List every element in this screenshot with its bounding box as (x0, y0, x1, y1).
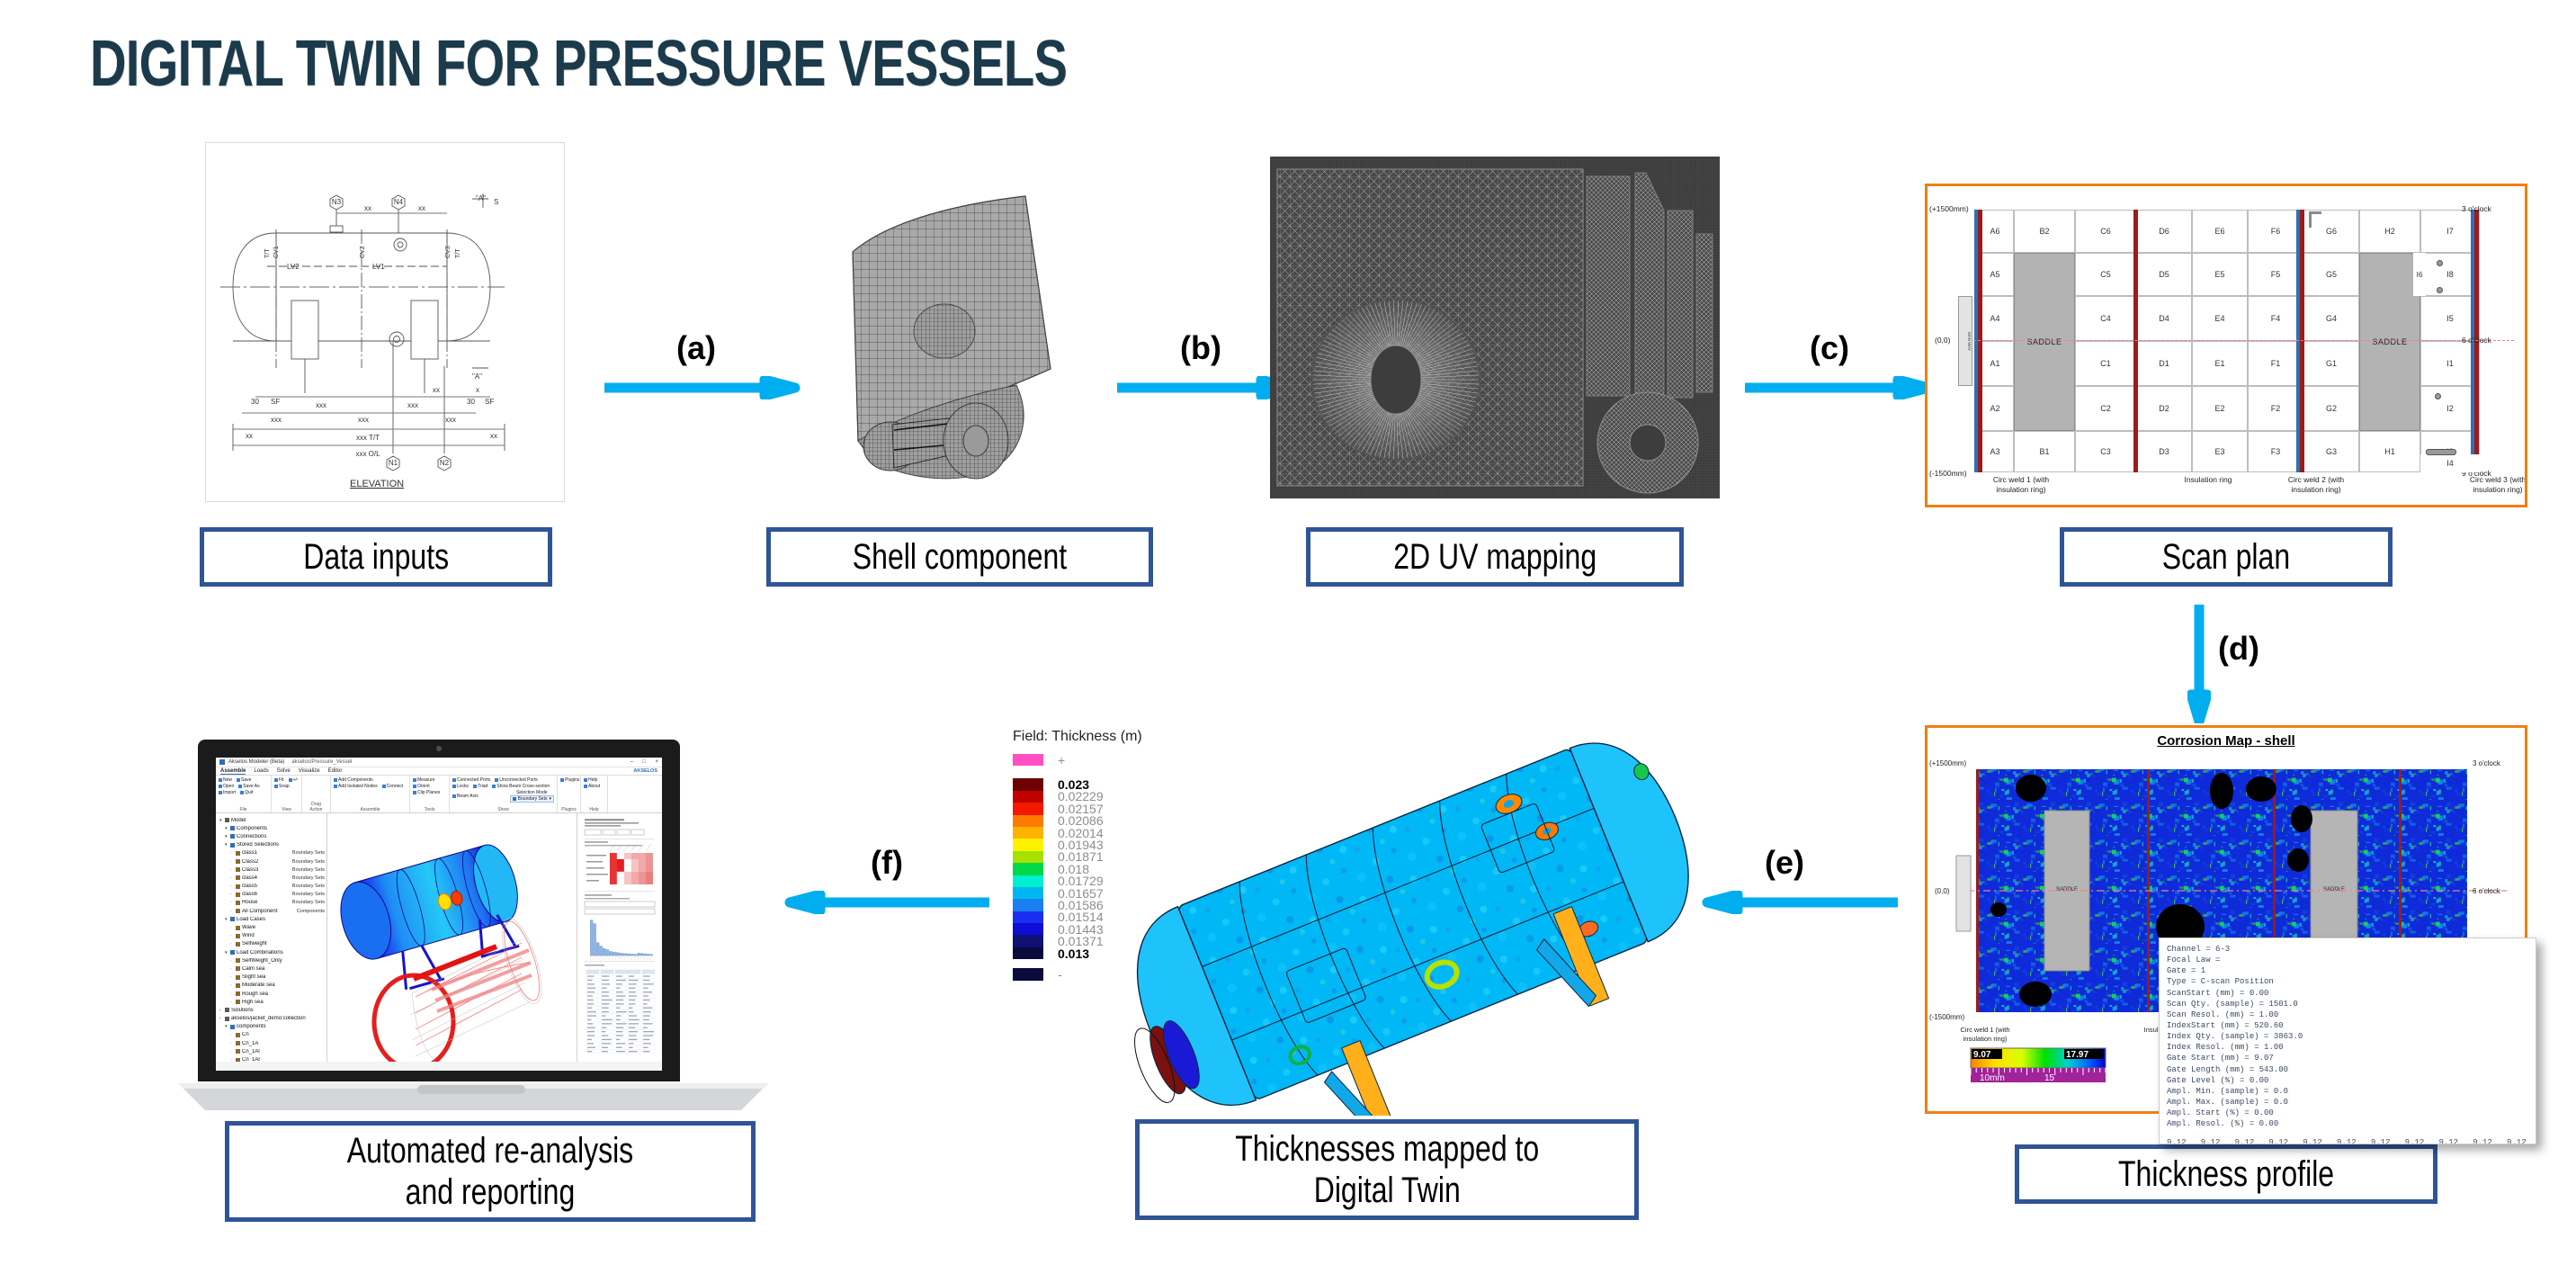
ribbon-group-label: View (274, 807, 299, 812)
tree-item-label: Solutions (231, 1008, 325, 1013)
legend-over-symbol: + (1058, 753, 1065, 767)
tree-item[interactable]: ·Wave (218, 923, 325, 931)
legend-row: 0.01657 (1013, 887, 1211, 899)
tree-item[interactable]: ▾Load Combinations (218, 948, 325, 956)
tab-loads[interactable]: Loads (254, 768, 268, 774)
weld-label-cv1: CV1 (273, 246, 280, 258)
ribbon-item-icon (274, 778, 278, 782)
tree-item[interactable]: ·Rough sea (218, 990, 325, 998)
ribbon-item-icon (238, 785, 242, 788)
ribbon-item[interactable]: Triad (473, 784, 487, 789)
ribbon-group-drag-action: Drag Action (302, 776, 331, 812)
tree-item-icon (236, 1033, 240, 1037)
tree-twisty-icon[interactable]: · (230, 1032, 234, 1037)
tree-twisty-icon[interactable]: ▾ (225, 842, 228, 848)
scan-plan-cell[interactable]: E1 (2192, 341, 2248, 386)
weld-label-cv3: CV3 (445, 246, 452, 258)
tree-item[interactable]: ·Moderate sea (218, 982, 325, 990)
level-label-lv1: LV1 (372, 263, 385, 271)
ribbon-item[interactable]: About (584, 784, 600, 789)
tree-twisty-icon[interactable]: · (230, 850, 234, 856)
scan-plan-cell[interactable]: C4 (2075, 296, 2136, 341)
saddle-block: SADDLE (2359, 253, 2420, 431)
caption-twin-mapped: Thicknesses mapped to Digital Twin (1135, 1119, 1639, 1220)
ribbon-item[interactable]: New (219, 777, 232, 783)
tree-item[interactable]: ▾Components (218, 824, 325, 832)
tree-twisty-icon[interactable]: · (230, 933, 234, 938)
weld-line-red (1978, 210, 1982, 472)
nozzle-marker (2435, 393, 2441, 399)
tree-twisty-icon[interactable]: · (230, 1041, 234, 1046)
scan-plan-cell[interactable]: F6 (2248, 210, 2303, 253)
ribbon-item[interactable]: +/- (289, 777, 299, 783)
ribbon-item-label: Add Isolated Nodes (338, 784, 378, 789)
ribbon-item[interactable]: Measure (413, 777, 434, 783)
tree-item-type: Boundary Sets (292, 850, 325, 856)
modeler-app-screen: Akselos Modeler (Beta) akselos/Pressure_… (216, 758, 662, 1071)
scan-plan-cell[interactable]: C2 (2075, 386, 2136, 431)
tree-item-type: Boundary Sets (292, 867, 325, 873)
scan-plan-cell[interactable]: C1 (2075, 341, 2136, 386)
ribbon-item[interactable]: Locks (452, 784, 469, 789)
ribbon-item[interactable]: Import (219, 790, 236, 795)
tree-item-icon (236, 942, 240, 947)
tree-item-label: High sea (242, 1000, 325, 1005)
app-doc-title: akselos/Pressure_Vessel (291, 759, 352, 765)
ribbon-item[interactable]: Orient (413, 784, 430, 789)
scan-plan-cell[interactable]: G2 (2303, 386, 2359, 431)
scan-plan-cell[interactable]: B1 (2014, 431, 2075, 472)
app-title: Akselos Modeler (Beta) (228, 759, 284, 765)
ribbon-item-icon (289, 778, 292, 782)
ribbon-item[interactable]: Connected Ports (452, 777, 490, 783)
ribbon-item[interactable]: Save As (238, 784, 259, 789)
ribbon-item[interactable]: Add Components (334, 777, 373, 783)
svg-text:Circ weld 1 (with: Circ weld 1 (with (1960, 1026, 2009, 1034)
tree-item-type: Boundary Sets (292, 892, 325, 897)
svg-text:17.97: 17.97 (2066, 1050, 2089, 1060)
legend-swatch (1013, 923, 1043, 935)
dim-label: xxx (271, 416, 282, 424)
scan-plan-cell[interactable]: H2 (2359, 210, 2420, 253)
tree-item-label: Load Combinations (237, 950, 325, 955)
ribbon-item-icon (584, 778, 587, 782)
tree-item-label: House (242, 900, 291, 905)
uv-mesh-svg (1270, 157, 1720, 498)
tree-item-label: SelfWeight_Only (242, 958, 325, 964)
scan-plan-cell[interactable]: I6 (2413, 253, 2426, 296)
model-tree[interactable]: ▾Model▾Components▾Connections▾Stored Sel… (216, 813, 327, 1062)
window-close-button[interactable]: × (651, 759, 662, 765)
tree-twisty-icon[interactable]: · (230, 875, 234, 881)
ribbon-item-label: Fit (279, 777, 284, 783)
tree-item-type: Boundary Sets (292, 900, 325, 905)
legend-row: 0.013 (1013, 947, 1211, 959)
tree-twisty-icon[interactable]: › (219, 1008, 223, 1013)
tree-item[interactable]: ·Class2Boundary Sets (218, 857, 325, 866)
svg-text:9.07: 9.07 (1973, 1050, 1991, 1060)
tree-item-icon (236, 901, 240, 905)
legend-row: 0.02014 (1013, 827, 1211, 839)
tree-twisty-icon[interactable]: › (219, 1016, 223, 1021)
support-block (2426, 449, 2456, 455)
tree-item[interactable]: ·High sea (218, 998, 325, 1006)
ribbon-item-label: Plugins (565, 777, 579, 783)
ribbon-item[interactable]: Clip Planes (413, 790, 440, 795)
ribbon-item[interactable]: Help (584, 777, 597, 783)
scan-plan-axis-label: (0,0) (1935, 336, 1950, 345)
arrow-label-f: (f) (871, 844, 903, 882)
tree-item-label: class6 (242, 892, 291, 897)
legend-title: Field: Thickness (m) (1013, 729, 1211, 745)
tree-item[interactable]: ·Selfweight (218, 940, 325, 948)
arrow-label-c: (c) (1810, 329, 1849, 367)
svg-text:(+1500mm): (+1500mm) (1929, 759, 1966, 767)
legend-swatch (1013, 947, 1043, 959)
panel-shell-component (836, 180, 1088, 504)
tree-twisty-icon[interactable]: ▾ (225, 834, 228, 839)
ribbon-item[interactable]: Snap (274, 784, 290, 789)
ribbon-item-label: About (588, 784, 600, 789)
legend-row: 0.01371 (1013, 935, 1211, 947)
ribbon-group-view: Fit+/-SnapView (272, 776, 302, 812)
tree-item[interactable]: ·HouseBoundary Sets (218, 899, 325, 907)
model-viewport[interactable] (327, 813, 577, 1062)
ribbon-item[interactable]: Show Beam Cross-section (492, 784, 550, 789)
tree-twisty-icon[interactable]: ▾ (225, 826, 228, 831)
tree-twisty-icon[interactable]: · (230, 1057, 234, 1062)
ribbon-item-label: Unconnected Ports (499, 777, 538, 783)
ribbon-item-icon (584, 785, 587, 788)
ribbon-item-icon (334, 778, 337, 782)
tree-twisty-icon[interactable]: · (230, 941, 234, 947)
tree-item[interactable]: ·Slight sea (218, 973, 325, 982)
thickness-legend: Field: Thickness (m) +0.0230.022290.0215… (1013, 729, 1211, 981)
tree-item-label: Components (237, 826, 325, 831)
tree-item[interactable]: ·Cn_1Al (218, 1047, 325, 1055)
legend-row: 0.02157 (1013, 803, 1211, 814)
nozzle-marker (2437, 260, 2443, 266)
ribbon-item-icon (560, 778, 564, 782)
selection-mode-dropdown[interactable]: Boundary Sets▾ (510, 795, 554, 803)
tree-twisty-icon[interactable]: ▾ (225, 1024, 228, 1029)
tree-item-type: Components (297, 909, 325, 914)
tree-item-icon (236, 1041, 240, 1045)
ribbon-item-label: Locks (457, 784, 469, 789)
selection-mode[interactable]: Selection ModeBoundary Sets▾ (510, 790, 554, 803)
tree-item-label: class4 (242, 875, 291, 881)
caption-data-inputs: Data inputs (200, 527, 552, 587)
tree-item-type: Boundary Sets (292, 884, 325, 889)
tree-item-label: Calm sea (242, 966, 325, 972)
tree-item-icon (236, 983, 240, 988)
legend-swatch (1013, 778, 1043, 790)
legend-row: 0.018 (1013, 863, 1211, 875)
ribbon-item-icon (452, 785, 456, 788)
ribbon-item[interactable]: Beam Axis (452, 790, 479, 803)
tree-twisty-icon[interactable]: · (230, 909, 234, 914)
ribbon-item[interactable]: Save (237, 777, 251, 783)
ribbon-group-help: HelpAboutHelp (581, 776, 608, 812)
tree-item-label: Cn_1Al (242, 1049, 325, 1054)
dim-label-sfb: SF (485, 398, 494, 406)
scan-plan-cell[interactable]: C5 (2075, 253, 2136, 296)
ribbon-item-icon (452, 794, 456, 798)
ribbon-item-icon (219, 778, 222, 782)
tee-fitting (2309, 211, 2321, 228)
scan-plan-grid: A6B2C6D6E6F6G6H2I7A5C5D5E5F5G5I8A4C4D4E4… (1928, 186, 2525, 505)
tree-item-icon (236, 991, 240, 996)
scan-plan-cell[interactable]: H1 (2359, 431, 2420, 472)
tree-item[interactable]: ·class6Boundary Sets (218, 891, 325, 899)
app-title-bar: Akselos Modeler (Beta) akselos/Pressure_… (216, 758, 662, 767)
scan-plan-cell[interactable]: E2 (2192, 386, 2248, 431)
legend-over-row: + (1013, 754, 1211, 766)
tree-item[interactable]: ·Cn_1A (218, 1039, 325, 1047)
tree-item[interactable]: ▾Load Cases (218, 915, 325, 923)
tree-item[interactable]: ·Wind (218, 932, 325, 940)
scan-plan-cell[interactable]: F5 (2248, 253, 2303, 296)
legend-swatch (1013, 839, 1043, 850)
dim-label: xxx (407, 401, 418, 409)
ribbon-group-label: Show (452, 807, 554, 812)
tree-item[interactable]: ▾Stored Selections (218, 841, 325, 849)
ribbon-item-icon (473, 785, 477, 788)
scan-parameter-line: Gate Length (mm) = 543.00 (2167, 1064, 2528, 1075)
tree-item[interactable]: ›Solutions (218, 1006, 325, 1014)
scan-plan-cell[interactable]: E6 (2192, 210, 2248, 253)
tab-assemble[interactable]: Assemble (220, 768, 246, 775)
tree-item-icon (236, 1049, 240, 1054)
ribbon-item[interactable]: Connect (382, 784, 404, 789)
tree-twisty-icon[interactable]: ▾ (225, 950, 228, 955)
ribbon-item-icon (413, 785, 416, 788)
ribbon-tabs: AssembleLoadsSolveVisualizeEditor AKSELO… (216, 767, 662, 776)
dim-label: xx (490, 432, 497, 440)
svg-text:(-1500mm): (-1500mm) (1929, 1013, 1964, 1021)
scan-plan-cell[interactable]: D4 (2136, 296, 2192, 341)
legend-swatch (1013, 899, 1043, 911)
scan-plan-cell[interactable]: C3 (2075, 431, 2136, 472)
scan-plan-cell[interactable]: F4 (2248, 296, 2303, 341)
tree-twisty-icon[interactable]: ▾ (219, 818, 223, 823)
ribbon-item[interactable]: Quit (240, 790, 253, 795)
tree-twisty-icon[interactable]: · (230, 974, 234, 980)
ribbon-item-label: New (223, 777, 232, 783)
tree-item[interactable]: ·Cn_1Ar (218, 1055, 325, 1062)
ribbon-item-label: Import (223, 790, 236, 795)
dim-label: xxx (358, 416, 369, 424)
scan-parameter-line: Focal Law = (2167, 955, 2528, 965)
panel-uv-mapping (1270, 157, 1720, 498)
scan-parameter-line: Scan Qty. (sample) = 1501.0 (2167, 999, 2528, 1009)
scan-plan-cell[interactable]: D6 (2136, 210, 2192, 253)
dim-label: xxx (316, 401, 326, 409)
tree-twisty-icon[interactable]: · (230, 859, 234, 865)
scan-parameter-line: IndexStart (mm) = 520.60 (2167, 1020, 2528, 1031)
tree-twisty-icon[interactable]: · (230, 867, 234, 873)
tree-item-type: Boundary Sets (292, 859, 325, 865)
selection-mode-label: Selection Mode (510, 790, 554, 795)
scan-plan-cell[interactable]: D1 (2136, 341, 2192, 386)
scan-plan-cell[interactable]: B2 (2014, 210, 2075, 253)
tree-twisty-icon[interactable]: · (230, 966, 234, 972)
tree-item-icon (236, 958, 240, 963)
scan-plan-cell[interactable]: D5 (2136, 253, 2192, 296)
legend-swatch (1013, 887, 1043, 899)
scan-plan-cell[interactable]: E3 (2192, 431, 2248, 472)
svg-text:15: 15 (2044, 1073, 2055, 1083)
report-pane[interactable] (577, 813, 662, 1062)
digital-twin-svg (1124, 720, 1772, 1116)
tree-item[interactable]: ·All ComponentComponents (218, 907, 325, 915)
ribbon-item[interactable]: Unconnected Ports (495, 777, 538, 783)
legend-row: 0.01443 (1013, 923, 1211, 935)
ribbon-item[interactable]: Plugins (560, 777, 579, 783)
tree-item[interactable]: ▾components (218, 1023, 325, 1031)
scan-parameter-line: Channel = 6-3 (2167, 944, 2528, 955)
tree-item[interactable]: ▾Model (218, 816, 325, 824)
tree-item[interactable]: ·class5Boundary Sets (218, 883, 325, 891)
arrow-d (2187, 605, 2211, 723)
tree-item-icon (230, 917, 235, 921)
ribbon-group-label: Drag Action (305, 802, 327, 812)
tab-editor[interactable]: Editor (328, 768, 343, 774)
tree-item-label: Cn_1A (242, 1041, 325, 1046)
tree-item-icon (225, 1008, 229, 1012)
arrow-a (604, 376, 802, 399)
tree-twisty-icon[interactable]: · (230, 884, 234, 889)
tree-twisty-icon[interactable]: · (230, 958, 234, 964)
caption-scan-plan: Scan plan (2060, 527, 2393, 587)
scan-parameter-line: Index Qty. (sample) = 3863.0 (2167, 1031, 2528, 1042)
ribbon-item[interactable]: Fit (274, 777, 284, 783)
caption-thickness-profile: Thickness profile (2015, 1144, 2437, 1204)
tree-item-icon (230, 826, 235, 830)
tree-item-label: Wind (242, 933, 325, 938)
scan-plan-cell[interactable]: F1 (2248, 341, 2303, 386)
tree-item[interactable]: ·Cn (218, 1031, 325, 1039)
svg-text:6 o'clock: 6 o'clock (2473, 887, 2501, 895)
legend-under-row: - (1013, 968, 1211, 980)
scan-plan-cell[interactable]: I4 (2420, 454, 2480, 472)
section-mark-s: S (494, 198, 498, 206)
weld-line-red (2133, 210, 2138, 472)
scan-plan-cell[interactable]: G1 (2303, 341, 2359, 386)
tree-item-label: Cn (242, 1032, 325, 1037)
tree-item[interactable]: ·Calm sea (218, 964, 325, 973)
legend-swatch (1013, 791, 1043, 803)
scan-plan-cell[interactable]: F3 (2248, 431, 2303, 472)
ribbon-item-label: Beam Axis (457, 794, 479, 799)
dim-label: xx (418, 204, 425, 212)
scan-parameter-line: Ampl. Min. (sample) = 0.0 (2167, 1086, 2528, 1097)
ribbon-item[interactable]: Open (219, 784, 234, 789)
tree-item[interactable]: ·Class3Boundary Sets (218, 866, 325, 874)
ribbon-item-icon (219, 785, 222, 788)
scan-parameter-line: Gate Level (%) = 0.00 (2167, 1075, 2528, 1086)
tree-item-label: Rough sea (242, 991, 325, 997)
ribbon-item-label: Triad (478, 784, 487, 789)
svg-text:insulation ring): insulation ring) (1963, 1035, 2008, 1043)
tree-item-label: akselos/jacket_demo:collection (231, 1016, 325, 1021)
tree-twisty-icon[interactable]: · (230, 892, 234, 897)
ribbon-group-show: Connected PortsUnconnected PortsLocksTri… (450, 776, 558, 812)
scan-plan-cell[interactable]: C6 (2075, 210, 2136, 253)
tab-visualize[interactable]: Visualize (299, 768, 320, 774)
nozzle-label-n4: N4 (394, 198, 404, 206)
scan-plan-cell[interactable]: E4 (2192, 296, 2248, 341)
nozzle-label-n2: N2 (440, 459, 450, 467)
scan-plan-cell[interactable]: E5 (2192, 253, 2248, 296)
tree-twisty-icon[interactable]: · (230, 1000, 234, 1005)
tree-item[interactable]: ·SelfWeight_Only (218, 956, 325, 964)
tree-item-icon (236, 1000, 240, 1004)
legend-row: 0.01871 (1013, 851, 1211, 863)
nozzle-label-n1: N1 (389, 459, 398, 467)
ribbon-item-icon (382, 785, 386, 788)
legend-row: 0.02229 (1013, 791, 1211, 803)
dim-label: xx (364, 204, 371, 212)
tree-twisty-icon[interactable]: · (230, 925, 234, 930)
caption-uv-mapping: 2D UV mapping (1306, 527, 1684, 587)
ribbon-item-label: Add Components (338, 777, 373, 783)
scan-plan-cell[interactable]: D3 (2136, 431, 2192, 472)
chevron-down-icon[interactable]: ▾ (549, 796, 551, 802)
tree-item[interactable]: ·class1Boundary Sets (218, 849, 325, 857)
tree-twisty-icon[interactable]: · (230, 991, 234, 997)
scan-plan-cell[interactable]: G5 (2303, 253, 2359, 296)
legend-swatch (1013, 911, 1043, 923)
tree-item-label: Connections (237, 834, 325, 839)
scan-plan-cell[interactable]: D2 (2136, 386, 2192, 431)
ribbon-item-icon (334, 785, 337, 788)
scan-data-table: 9.12 9.12 9.12 9.12 9.12 9.12 9.12 9.12 … (2167, 1137, 2528, 1144)
ribbon-group-label: Assemble (334, 807, 407, 812)
scan-plan-note: Insulation ring (2145, 475, 2271, 485)
tree-item-label: class5 (242, 884, 291, 889)
legend-swatch (1013, 803, 1043, 814)
tt-label-left: T/T (264, 248, 271, 258)
tree-item[interactable]: ▾Connections (218, 832, 325, 840)
ribbon-toolbar: NewSaveOpenSave AsImportQuitFileFit+/-Sn… (216, 776, 662, 813)
tree-item[interactable]: ·class4Boundary Sets (218, 874, 325, 882)
scan-plan-cell[interactable]: G4 (2303, 296, 2359, 341)
tab-solve[interactable]: Solve (277, 768, 291, 774)
window-maximize-button[interactable]: □ (640, 759, 648, 765)
tree-item-label: Slight sea (242, 974, 325, 980)
weld-line-red (2300, 210, 2304, 472)
tree-twisty-icon[interactable]: · (230, 982, 234, 988)
scan-parameter-line: Gate = 1 (2167, 965, 2528, 976)
dim-label: xxx (445, 416, 456, 424)
scan-plan-cell[interactable]: G3 (2303, 431, 2359, 472)
window-minimize-button[interactable]: – (628, 759, 636, 765)
tree-item[interactable]: ›akselos/jacket_demo:collection (218, 1015, 325, 1023)
legend-swatch (1013, 754, 1043, 766)
page-title: DIGITAL TWIN FOR PRESSURE VESSELS (90, 27, 1067, 101)
ribbon-item-label: +/- (293, 777, 299, 783)
ribbon-item-label: Snap (279, 784, 290, 789)
tree-twisty-icon[interactable]: · (230, 900, 234, 905)
ribbon-item-icon (237, 778, 240, 782)
dim-label: x (476, 386, 479, 394)
scan-plan-cell[interactable]: F2 (2248, 386, 2303, 431)
ribbon-item[interactable]: Add Isolated Nodes (334, 784, 378, 789)
ribbon-item-icon (413, 791, 416, 794)
tree-twisty-icon[interactable]: · (230, 1049, 234, 1054)
tree-twisty-icon[interactable]: ▾ (225, 917, 228, 922)
